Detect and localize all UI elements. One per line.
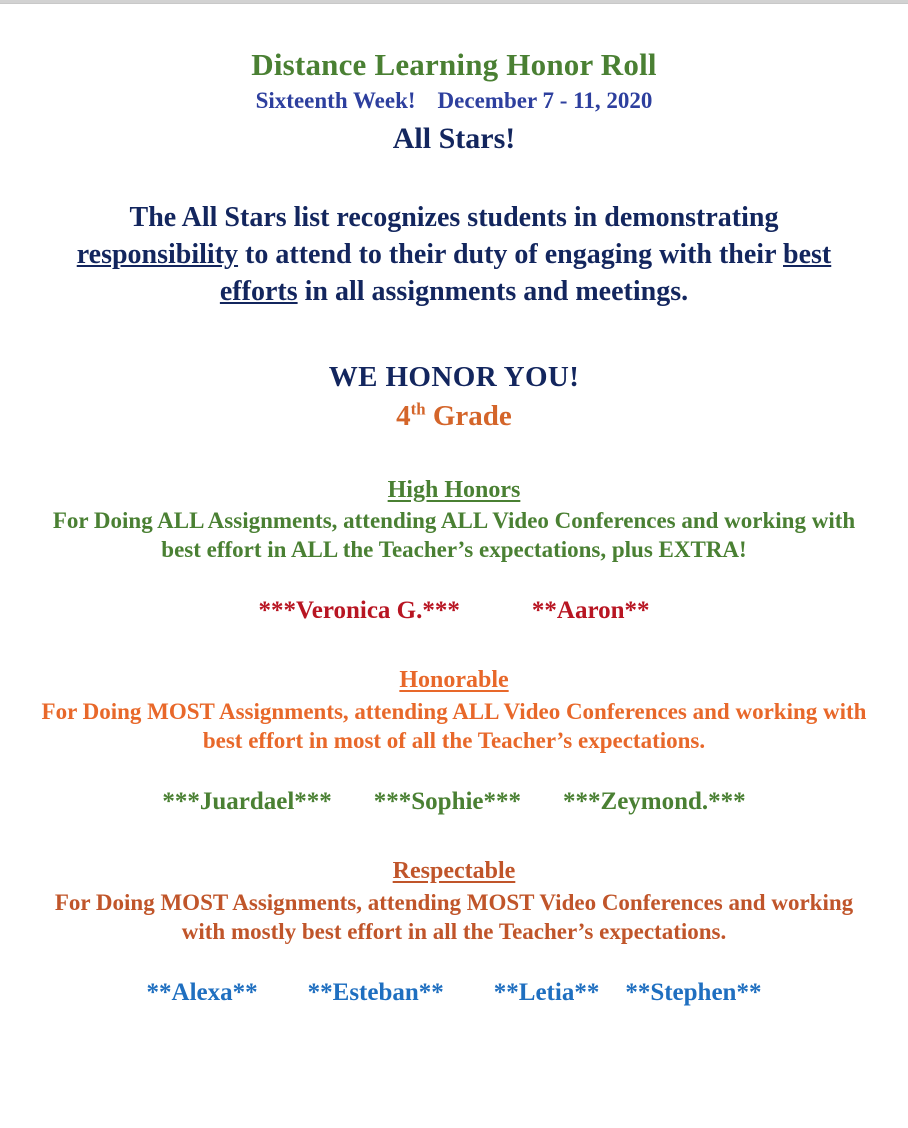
student-name: **Esteban** [308,979,444,1008]
intro-text-part-1: The All Stars list recognizes students i… [130,202,779,233]
student-name: **Stephen** [625,979,761,1008]
grade-number: 4 [396,400,411,432]
student-name: ***Juardael*** [162,788,331,817]
honor-roll-document: Distance Learning Honor Roll Sixteenth W… [0,47,908,1007]
section-description-high-honors: For Doing ALL Assignments, attending ALL… [22,507,886,565]
week-and-date-line: Sixteenth Week!December 7 - 11, 2020 [22,88,886,114]
names-list-high-honors: ***Veronica G.*** **Aaron** [22,597,886,626]
honor-call-out: WE HONOR YOU! [22,361,886,394]
student-name: **Alexa** [147,979,258,1008]
week-label: Sixteenth Week! [256,88,416,113]
section-description-honorable: For Doing MOST Assignments, attending AL… [22,698,886,756]
intro-paragraph: The All Stars list recognizes students i… [22,200,886,311]
section-high-honors: High Honors For Doing ALL Assignments, a… [22,477,886,626]
student-name: ***Veronica G.*** [258,597,459,626]
page-top-edge [0,0,908,4]
all-stars-banner: All Stars! [22,122,886,156]
intro-text-part-2: to attend to their duty of engaging with… [238,239,783,270]
section-honorable: Honorable For Doing MOST Assignments, at… [22,667,886,816]
names-list-honorable: ***Juardael*** ***Sophie*** ***Zeymond.*… [22,788,886,817]
grade-ordinal-suffix: th [411,399,426,418]
section-heading-high-honors: High Honors [22,477,886,504]
section-heading-honorable: Honorable [22,667,886,694]
student-name: ***Sophie*** [374,788,521,817]
date-range: December 7 - 11, 2020 [438,88,653,113]
grade-word: Grade [433,400,512,432]
names-list-respectable: **Alexa** **Esteban** **Letia** **Stephe… [22,979,886,1008]
student-name: ***Zeymond.*** [563,788,746,817]
section-description-respectable: For Doing MOST Assignments, attending MO… [22,889,886,947]
student-name: **Aaron** [532,597,650,626]
student-name: **Letia** [494,979,600,1008]
section-heading-respectable: Respectable [22,858,886,885]
section-respectable: Respectable For Doing MOST Assignments, … [22,858,886,1007]
grade-level: 4th Grade [22,400,886,433]
intro-text-part-3: in all assignments and meetings. [298,276,689,307]
document-title: Distance Learning Honor Roll [22,47,886,82]
intro-emphasis-responsibility: responsibility [77,239,238,270]
